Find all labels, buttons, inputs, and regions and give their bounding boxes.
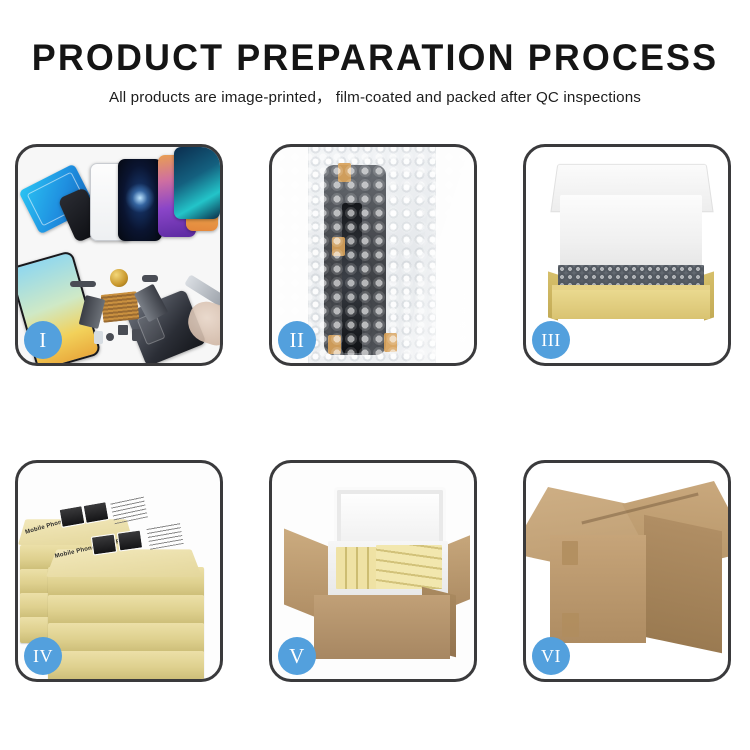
tape-top bbox=[338, 163, 351, 182]
packed-boxes-row-b bbox=[376, 545, 442, 589]
process-step-panel-2[interactable]: II bbox=[269, 144, 477, 366]
page-subtitle: All products are image-printed， film-coa… bbox=[0, 87, 750, 109]
step-badge-1: I bbox=[24, 321, 62, 359]
inner-box-front bbox=[552, 290, 710, 319]
process-step-panel-1[interactable]: I bbox=[15, 144, 223, 366]
step-badge-4: IV bbox=[24, 637, 62, 675]
tape-middle bbox=[332, 237, 345, 256]
step-badge-5: V bbox=[278, 637, 316, 675]
earpiece-mesh bbox=[70, 281, 96, 287]
page-header: PRODUCT PREPARATION PROCESS All products… bbox=[0, 0, 750, 109]
box-spec-lines-front bbox=[146, 522, 183, 550]
cyan-gradient-phone bbox=[174, 147, 220, 219]
page-title: PRODUCT PREPARATION PROCESS bbox=[11, 36, 739, 80]
screw-parts-b bbox=[132, 329, 141, 341]
carton-side-face bbox=[644, 515, 722, 654]
carton-tape-lower bbox=[562, 613, 579, 637]
tape-bottom-left bbox=[328, 335, 341, 354]
small-connector bbox=[142, 275, 158, 282]
process-step-panel-6[interactable]: VI bbox=[523, 460, 731, 682]
carton-tape-upper bbox=[562, 541, 578, 565]
step-badge-2: II bbox=[278, 321, 316, 359]
stacked-box-fr-3 bbox=[48, 623, 204, 653]
process-step-panel-5[interactable]: V bbox=[269, 460, 477, 682]
process-step-panel-3[interactable]: III bbox=[523, 144, 731, 366]
stacked-box-fr-4 bbox=[48, 651, 204, 679]
gold-speaker-component bbox=[110, 269, 128, 287]
process-step-panel-4[interactable]: Mobile Phone Spare Parts Mobile Phone Sp… bbox=[15, 460, 223, 682]
step-badge-3: III bbox=[532, 321, 570, 359]
wrapped-part-strip bbox=[342, 203, 362, 353]
screw-parts-a bbox=[118, 325, 128, 335]
carton-front-face bbox=[314, 595, 450, 659]
stacked-box-fr-2 bbox=[48, 595, 204, 625]
sim-tray bbox=[94, 331, 103, 344]
logic-board-component bbox=[101, 291, 140, 323]
box-window-front-a bbox=[91, 533, 117, 555]
black-phone-display bbox=[118, 159, 162, 241]
process-step-grid: I II III bbox=[15, 144, 735, 682]
foam-sheet bbox=[560, 195, 702, 273]
foam-lid bbox=[334, 487, 446, 549]
box-window-front-b bbox=[117, 529, 143, 551]
tape-bottom-right bbox=[384, 333, 397, 352]
vibration-motor bbox=[106, 333, 114, 341]
box-spec-lines-back bbox=[110, 496, 148, 525]
step-badge-6: VI bbox=[532, 637, 570, 675]
